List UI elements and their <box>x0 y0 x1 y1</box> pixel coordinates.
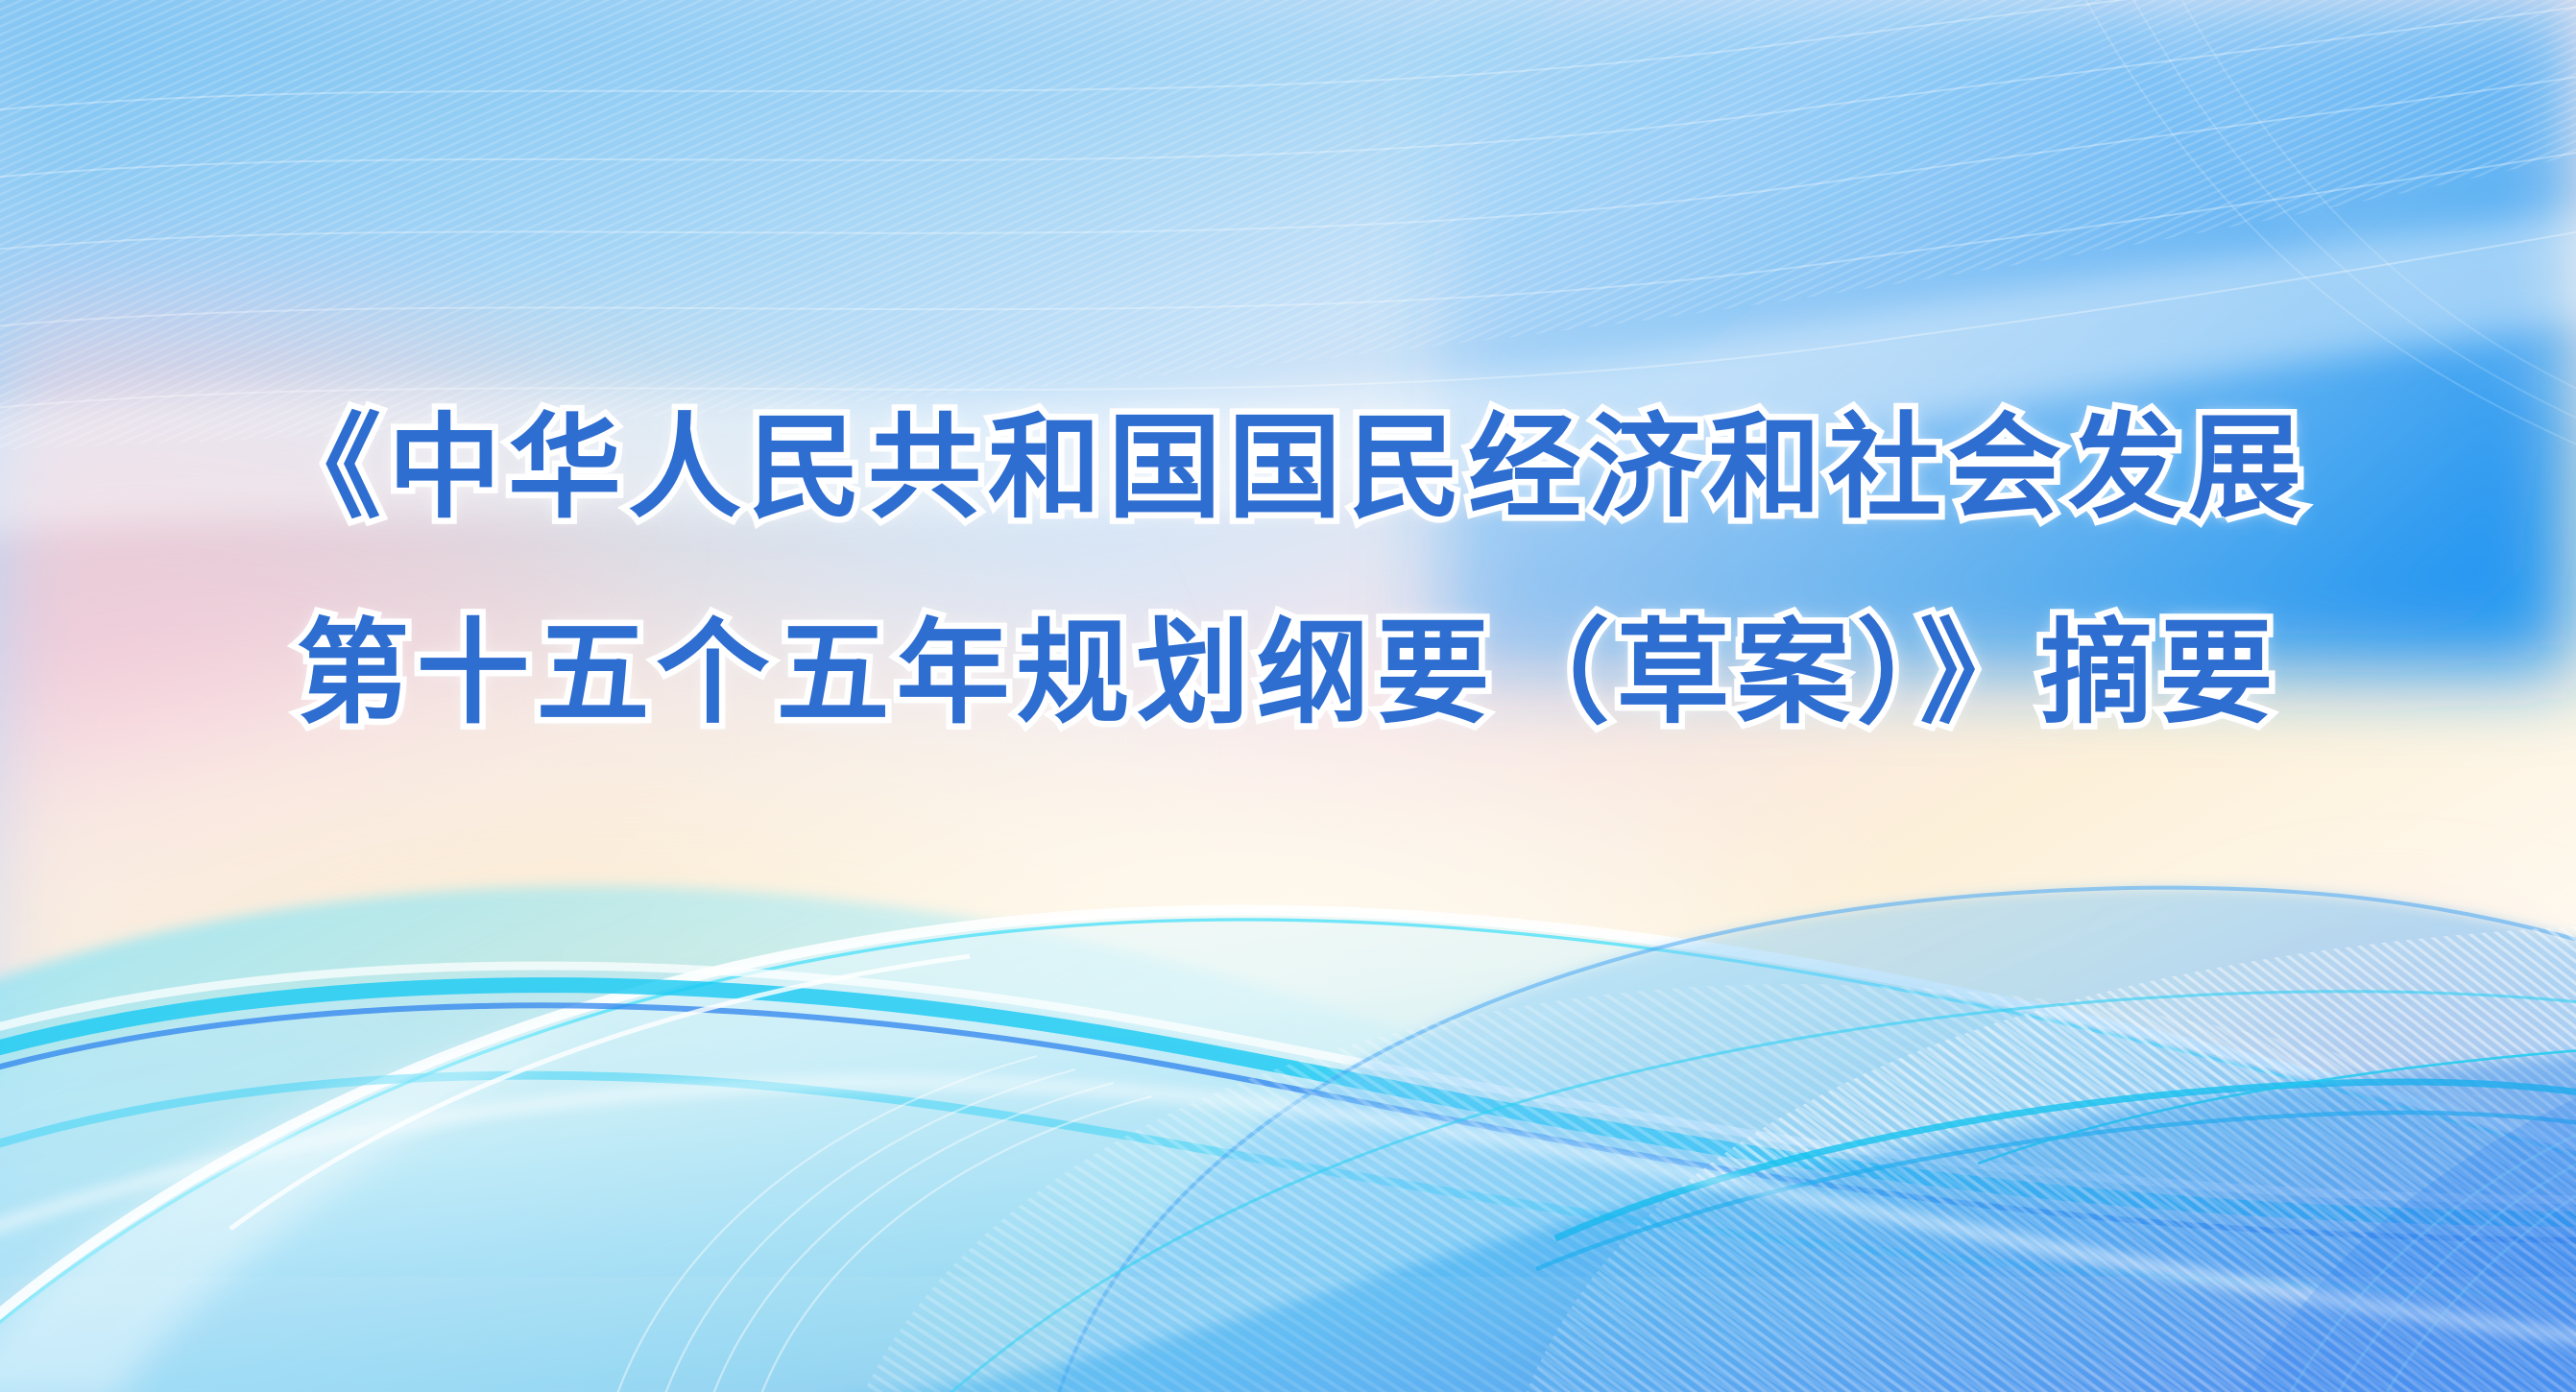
banner-root: 《中华人民共和国国民经济和社会发展 第十五个五年规划纲要（草案）》摘要 <box>0 0 2576 1392</box>
bottom-veil <box>0 1277 2576 1392</box>
background-artwork <box>0 0 2576 1392</box>
